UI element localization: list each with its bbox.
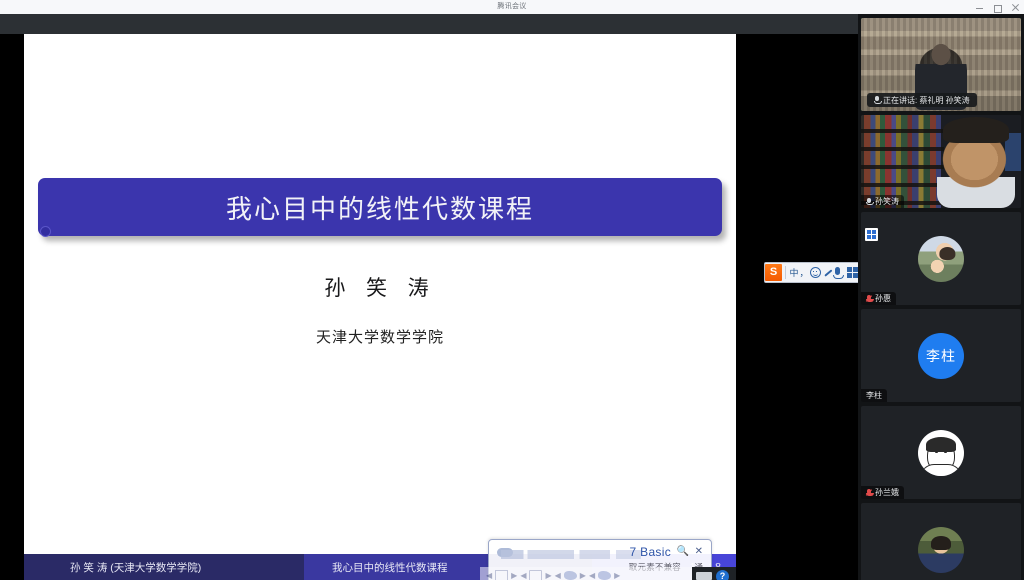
microphone-muted-icon-5 — [866, 489, 872, 497]
popup-title: 7 Basic — [630, 545, 671, 559]
window-title-bar: 腾讯会议 — [0, 0, 1024, 15]
avatar-5 — [918, 430, 964, 476]
chevron-right-icon[interactable]: ▶ — [511, 571, 517, 580]
ime-divider — [785, 266, 786, 279]
home-icon[interactable] — [529, 570, 542, 580]
participant-name-bar-3: 孙惠 — [861, 292, 896, 305]
avatar-4: 李柱 — [918, 333, 964, 379]
avatar-6 — [918, 527, 964, 573]
page-view-icon[interactable] — [495, 570, 508, 580]
help-icon[interactable]: ? — [716, 570, 729, 580]
emoji-icon[interactable] — [810, 267, 821, 278]
popup-ghost-text — [501, 550, 641, 559]
chip-icon — [696, 572, 712, 580]
participants-rail[interactable]: 正在讲话: 蔡礼明 孙笑涛 孙笑涛 孙惠 李柱 李柱 — [858, 14, 1024, 580]
ime-punctuation-mode[interactable]: ， — [799, 266, 809, 279]
pen-icon[interactable] — [823, 268, 833, 278]
meeting-window: 腾讯会议 我心目中的线性代数课程 孙 笑 涛 天津大学数学学院 孙 笑 涛 (天… — [0, 0, 1024, 580]
presentation-slide: 我心目中的线性代数课程 孙 笑 涛 天津大学数学学院 — [24, 34, 736, 554]
popup-close-icon[interactable]: ✕ — [695, 546, 703, 557]
participant-tile-4[interactable]: 李柱 李柱 — [861, 309, 1021, 402]
participant-tile-3[interactable]: 孙惠 — [861, 212, 1021, 305]
chevron-left-icon[interactable]: ◀ — [486, 571, 492, 580]
participant-tile-6[interactable]: 郎朗 — [861, 503, 1021, 580]
slide-title: 我心目中的线性代数课程 — [226, 189, 534, 226]
participant-tile-5[interactable]: 孙兰娥 — [861, 406, 1021, 499]
participant-tile-1[interactable]: 正在讲话: 蔡礼明 孙笑涛 — [861, 18, 1021, 111]
microphone-icon — [874, 96, 880, 104]
pdf-status-badge[interactable]: ? — [692, 567, 736, 580]
screen-share-icon — [865, 228, 878, 241]
minimize-icon[interactable] — [975, 3, 984, 12]
microphone-icon-2 — [866, 198, 872, 206]
participant-name-3: 孙惠 — [875, 293, 891, 304]
ime-language-mode[interactable]: 中 — [789, 266, 799, 279]
slide-author: 孙 笑 涛 — [24, 272, 736, 302]
chevron-left-icon-3[interactable]: ◀ — [555, 571, 561, 580]
slide-affiliation: 天津大学数学学院 — [24, 326, 736, 347]
footline-author: 孙 笑 涛 (天津大学数学学院) — [24, 554, 304, 580]
participant-name-bar-4: 李柱 — [861, 389, 887, 402]
slide-title-band: 我心目中的线性代数课程 — [38, 178, 722, 236]
chevron-right-icon-4[interactable]: ▶ — [614, 571, 620, 580]
chevron-left-icon-2[interactable]: ◀ — [520, 571, 526, 580]
participant-tile-2[interactable]: 孙笑涛 — [861, 115, 1021, 208]
ime-toolbar[interactable]: S 中 ， — [764, 262, 862, 283]
avatar-3 — [918, 236, 964, 282]
window-controls — [975, 0, 1020, 14]
chevron-left-icon-4[interactable]: ◀ — [589, 571, 595, 580]
window-title: 腾讯会议 — [497, 0, 526, 14]
participant-name-bar-2: 孙笑涛 — [861, 195, 904, 208]
sogou-logo-icon[interactable]: S — [765, 264, 782, 281]
search-icon[interactable]: 🔍 — [677, 546, 689, 557]
close-icon[interactable] — [1011, 3, 1020, 12]
participant-name-2: 孙笑涛 — [875, 196, 899, 207]
active-speaker-label-bar: 正在讲话: 蔡礼明 孙笑涛 — [867, 93, 977, 107]
active-speaker-label: 正在讲话: 蔡礼明 孙笑涛 — [883, 95, 970, 106]
shared-screen-stage: 我心目中的线性代数课程 孙 笑 涛 天津大学数学学院 孙 笑 涛 (天津大学数学… — [0, 34, 858, 580]
maximize-icon[interactable] — [993, 3, 1002, 12]
chevron-right-icon-3[interactable]: ▶ — [580, 571, 586, 580]
chevron-right-icon-2[interactable]: ▶ — [545, 571, 551, 580]
slide-title-knob — [40, 226, 51, 237]
participant-name-4: 李柱 — [866, 390, 882, 401]
bird-icon-2[interactable] — [598, 571, 611, 580]
bird-icon[interactable] — [564, 571, 577, 580]
microphone-muted-icon-3 — [866, 295, 872, 303]
participant-name-bar-5: 孙兰娥 — [861, 486, 904, 499]
voice-input-icon[interactable] — [835, 267, 846, 278]
participant-name-5: 孙兰娥 — [875, 487, 899, 498]
toolbox-icon[interactable] — [847, 267, 858, 278]
